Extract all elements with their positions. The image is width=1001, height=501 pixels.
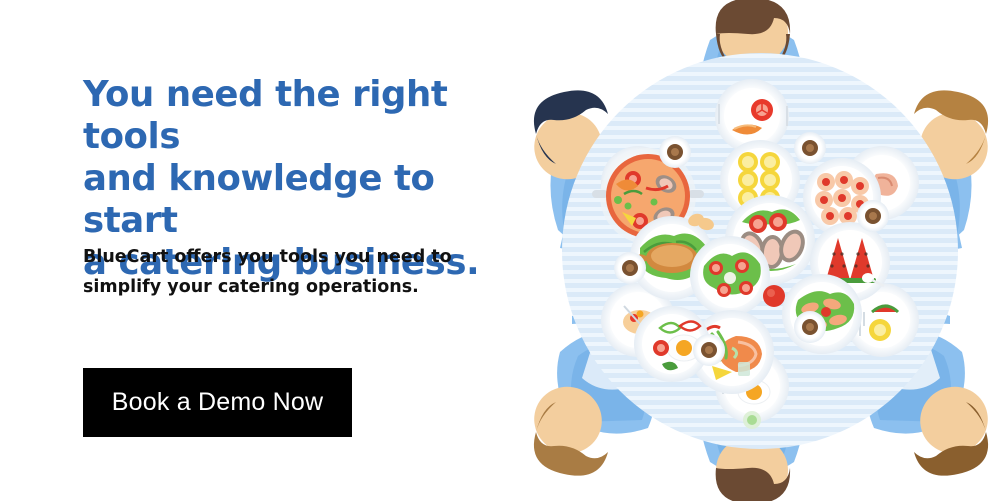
copy-block: You need the right tools and knowledge t…	[83, 74, 513, 284]
book-a-demo-button[interactable]: Book a Demo Now	[83, 368, 352, 437]
coffee-cup-top-left	[659, 136, 691, 168]
coffee-cup-right	[857, 200, 889, 232]
coffee-cup-left	[614, 252, 646, 284]
coffee-cup-bottom	[693, 334, 725, 366]
coffee-cup-south	[794, 311, 826, 343]
book-a-demo-label: Book a Demo Now	[112, 390, 323, 415]
coffee-cup-top-right	[794, 132, 826, 164]
dish-green-salad-platter	[690, 236, 770, 316]
subtitle: BlueCart offers you tools you need to si…	[83, 242, 483, 302]
dish-red-sauce-bowl	[763, 285, 785, 307]
catering-promo-banner: You need the right tools and knowledge t…	[0, 0, 1001, 501]
overhead-catering-table-illustration	[520, 0, 1001, 501]
